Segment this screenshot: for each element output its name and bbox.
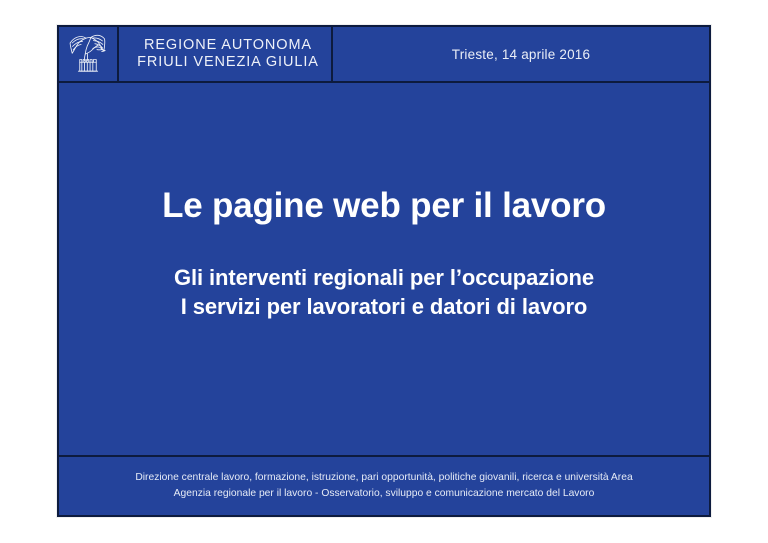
- slide-footer: Direzione centrale lavoro, formazione, i…: [59, 455, 709, 515]
- brand-cell: REGIONE AUTONOMA FRIULI VENEZIA GIULIA: [119, 27, 333, 81]
- fvg-eagle-castle-emblem-icon: [67, 32, 109, 76]
- date-cell: Trieste, 14 aprile 2016: [333, 27, 709, 81]
- brand-line-2: FRIULI VENEZIA GIULIA: [137, 54, 319, 71]
- slide-title: Le pagine web per il lavoro: [162, 83, 606, 226]
- slide-body: Le pagine web per il lavoro Gli interven…: [59, 83, 709, 455]
- subtitle-line-2: I servizi per lavoratori e datori di lav…: [174, 292, 594, 321]
- footer-line-2: Agenzia regionale per il lavoro - Osserv…: [174, 486, 595, 502]
- slide-subtitle: Gli interventi regionali per l’occupazio…: [174, 263, 594, 321]
- footer-line-1: Direzione centrale lavoro, formazione, i…: [135, 470, 632, 486]
- slide-header: REGIONE AUTONOMA FRIULI VENEZIA GIULIA T…: [59, 27, 709, 83]
- subtitle-line-1: Gli interventi regionali per l’occupazio…: [174, 263, 594, 292]
- presentation-slide: REGIONE AUTONOMA FRIULI VENEZIA GIULIA T…: [57, 25, 711, 517]
- slide-date: Trieste, 14 aprile 2016: [452, 47, 590, 62]
- logo-cell: [59, 27, 119, 81]
- slide-canvas: REGIONE AUTONOMA FRIULI VENEZIA GIULIA T…: [0, 0, 768, 543]
- brand-line-1: REGIONE AUTONOMA: [144, 37, 312, 54]
